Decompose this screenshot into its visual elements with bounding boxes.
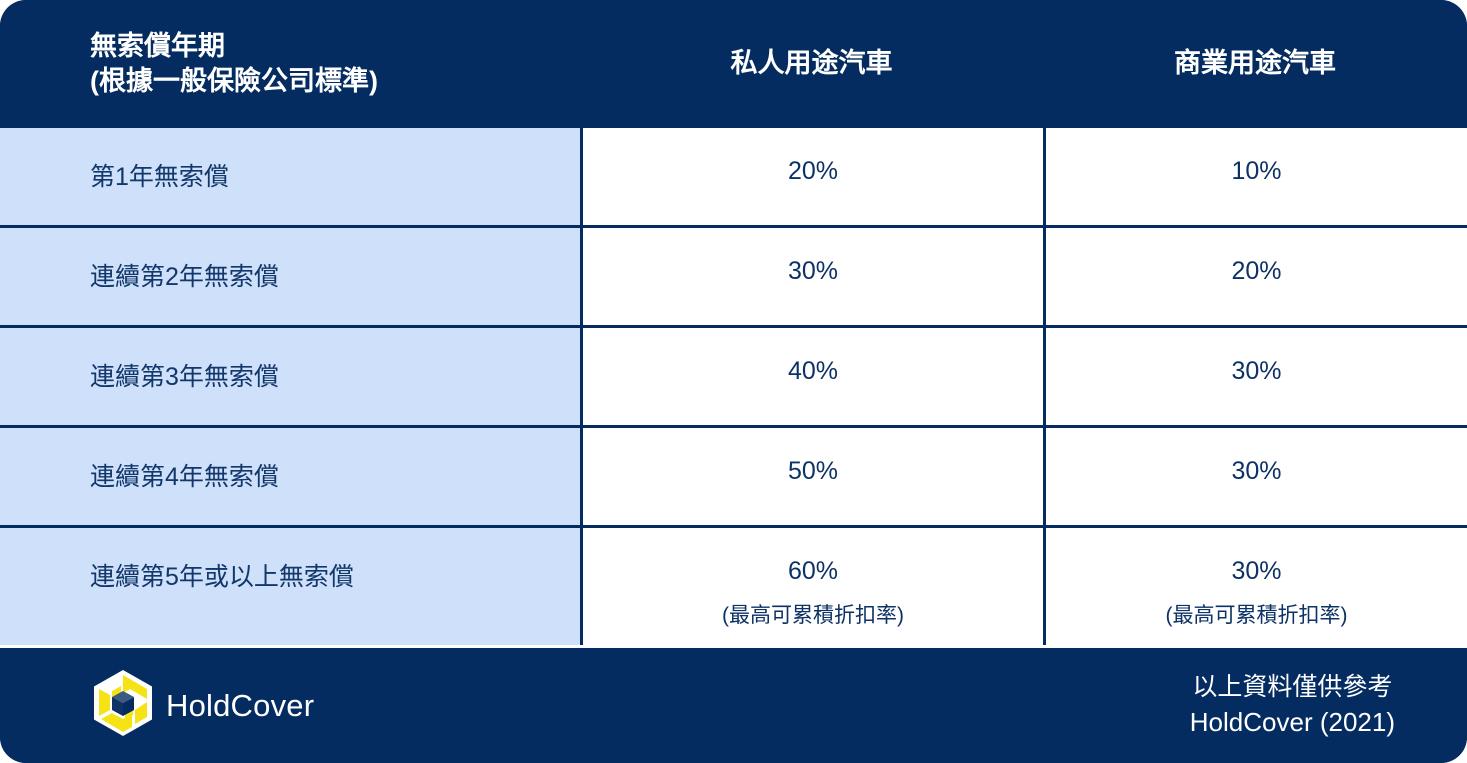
table-row: 連續第2年無索償 30% 20% (0, 228, 1467, 328)
cell-private-discount: 20% (580, 128, 1043, 225)
column-header-commercial-vehicle: 商業用途汽車 (1043, 46, 1467, 81)
table-footer: HoldCover 以上資料僅供參考 HoldCover (2021) (0, 648, 1467, 763)
cell-private-value: 20% (788, 157, 838, 186)
cell-commercial-discount: 30% (1043, 428, 1467, 525)
cell-private-discount: 50% (580, 428, 1043, 525)
cell-private-value: 40% (788, 357, 838, 386)
cell-private-value: 60% (788, 557, 838, 586)
cell-commercial-discount: 30% (1043, 328, 1467, 425)
cell-commercial-note: (最高可累積折扣率) (1166, 599, 1348, 629)
table-row: 第1年無索償 20% 10% (0, 128, 1467, 228)
table-body: 第1年無索償 20% 10% 連續第2年無索償 30% 20% 連續第3年無索償… (0, 128, 1467, 648)
footer-disclaimer-cn: 以上資料僅供參考 (1190, 671, 1395, 705)
cell-private-discount: 30% (580, 228, 1043, 325)
column-header-private-vehicle: 私人用途汽車 (580, 46, 1043, 81)
cell-commercial-value: 30% (1231, 357, 1281, 386)
cell-commercial-value: 30% (1231, 557, 1281, 586)
cell-commercial-discount: 10% (1043, 128, 1467, 225)
cell-term: 連續第2年無索償 (0, 228, 580, 325)
footer-disclaimer-en: HoldCover (2021) (1190, 705, 1395, 740)
holdcover-hexagon-cube-logo-icon (92, 669, 154, 742)
table-row: 連續第3年無索償 40% 30% (0, 328, 1467, 428)
nocv-discount-table-card: 無索償年期 (根據一般保險公司標準) 私人用途汽車 商業用途汽車 第1年無索償 … (0, 0, 1467, 763)
cell-commercial-discount: 20% (1043, 228, 1467, 325)
cell-private-note: (最高可累積折扣率) (722, 599, 904, 629)
column-header-term-line1: 無索償年期 (90, 29, 580, 64)
column-header-term: 無索償年期 (根據一般保險公司標準) (0, 29, 580, 99)
cell-commercial-value: 10% (1231, 157, 1281, 186)
cell-term: 連續第3年無索償 (0, 328, 580, 425)
cell-commercial-discount: 30% (最高可累積折扣率) (1043, 528, 1467, 645)
table-row: 連續第4年無索償 50% 30% (0, 428, 1467, 528)
cell-private-value: 30% (788, 257, 838, 286)
cell-commercial-value: 20% (1231, 257, 1281, 286)
cell-commercial-value: 30% (1231, 457, 1281, 486)
cell-private-discount: 40% (580, 328, 1043, 425)
table-header: 無索償年期 (根據一般保險公司標準) 私人用途汽車 商業用途汽車 (0, 0, 1467, 128)
cell-term: 連續第5年或以上無索償 (0, 528, 580, 645)
brand-lockup: HoldCover (0, 669, 314, 742)
brand-name: HoldCover (166, 688, 314, 724)
cell-private-value: 50% (788, 457, 838, 486)
cell-term: 連續第4年無索償 (0, 428, 580, 525)
column-header-term-line2: (根據一般保險公司標準) (90, 64, 580, 99)
footer-disclaimer: 以上資料僅供參考 HoldCover (2021) (1190, 671, 1467, 739)
table-row: 連續第5年或以上無索償 60% (最高可累積折扣率) 30% (最高可累積折扣率… (0, 528, 1467, 645)
cell-term: 第1年無索償 (0, 128, 580, 225)
cell-private-discount: 60% (最高可累積折扣率) (580, 528, 1043, 645)
